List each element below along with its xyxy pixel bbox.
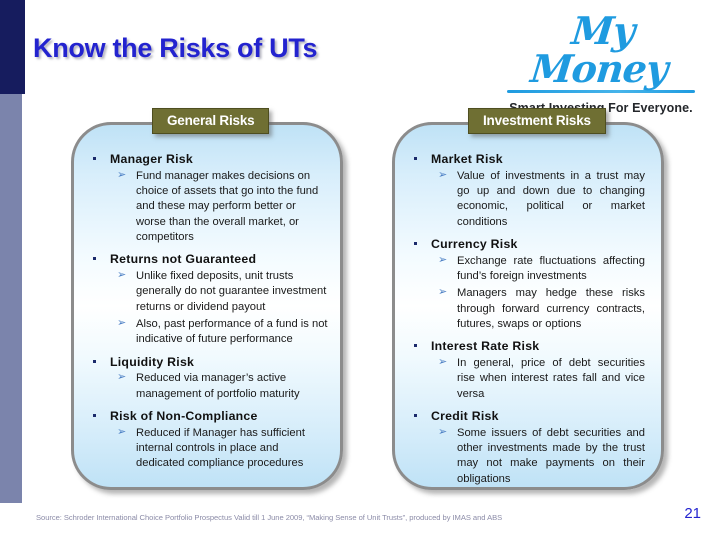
panel-general-risks-body: Manager Risk➢Fund manager makes decision… [74,125,340,478]
bullet-dot-icon [414,157,417,160]
arrow-bullet-icon: ➢ [117,425,126,441]
risk-item: Returns not Guaranteed➢Unlike fixed depo… [86,251,328,347]
risk-item-title: Risk of Non-Compliance [110,408,328,425]
sidebar-navy-block [0,0,25,94]
risk-detail-text: Reduced if Manager has sufficient intern… [136,426,328,472]
sidebar-slate-bar [0,94,22,503]
risk-detail-text: In general, price of debt securities ris… [457,356,649,402]
risk-detail-list: ➢Fund manager makes decisions on choice … [110,169,328,246]
risk-detail-text: Managers may hedge these risks through f… [457,286,649,332]
risk-detail-text: Value of investments in a trust may go u… [457,169,649,230]
risk-item-title: Currency Risk [431,236,649,253]
risk-detail-text: Some issuers of debt securities and othe… [457,426,649,487]
bullet-dot-icon [93,157,96,160]
panel-general-risks: Manager Risk➢Fund manager makes decision… [71,122,343,490]
risk-item-title: Liquidity Risk [110,354,328,371]
risk-detail-text: Reduced via manager’s active management … [136,371,328,402]
risk-detail-text: Exchange rate fluctuations affecting fun… [457,254,649,285]
risk-detail-list: ➢Exchange rate fluctuations affecting fu… [431,254,649,333]
risk-item: Interest Rate Risk➢In general, price of … [407,338,649,402]
risk-detail-list: ➢Some issuers of debt securities and oth… [431,426,649,487]
arrow-bullet-icon: ➢ [438,425,447,441]
risk-detail-item: ➢Unlike fixed deposits, unit trusts gene… [110,269,328,315]
risk-detail-item: ➢Value of investments in a trust may go … [431,169,649,230]
bullet-dot-icon [93,257,96,260]
risk-detail-item: ➢In general, price of debt securities ri… [431,356,649,402]
risk-detail-text: Unlike fixed deposits, unit trusts gener… [136,269,328,315]
risk-item-title: Returns not Guaranteed [110,251,328,268]
risk-item: Risk of Non-Compliance➢Reduced if Manage… [86,408,328,472]
slide: Know the Risks of UTs My Money Smart Inv… [0,0,715,536]
risk-detail-text: Fund manager makes decisions on choice o… [136,169,328,246]
risk-detail-item: ➢Reduced via manager’s active management… [110,371,328,402]
risk-detail-list: ➢In general, price of debt securities ri… [431,356,649,402]
risk-detail-list: ➢Value of investments in a trust may go … [431,169,649,230]
risk-detail-item: ➢Also, past performance of a fund is not… [110,317,328,348]
risk-item-title: Interest Rate Risk [431,338,649,355]
risk-item: Manager Risk➢Fund manager makes decision… [86,151,328,245]
panel-header-general-risks: General Risks [152,108,269,134]
panel-investment-risks: Market Risk➢Value of investments in a tr… [392,122,664,490]
bullet-dot-icon [93,360,96,363]
bullet-dot-icon [93,414,96,417]
risk-detail-list: ➢Unlike fixed deposits, unit trusts gene… [110,269,328,348]
panel-header-investment-risks: Investment Risks [468,108,606,134]
arrow-bullet-icon: ➢ [438,355,447,371]
source-note: Source: Schroder International Choice Po… [36,513,502,522]
arrow-bullet-icon: ➢ [117,268,126,284]
risk-item: Liquidity Risk➢Reduced via manager’s act… [86,354,328,402]
bullet-dot-icon [414,344,417,347]
risk-list-investment: Market Risk➢Value of investments in a tr… [407,151,649,487]
arrow-bullet-icon: ➢ [117,316,126,332]
risk-item: Currency Risk➢Exchange rate fluctuations… [407,236,649,332]
risk-detail-item: ➢Fund manager makes decisions on choice … [110,169,328,246]
risk-detail-item: ➢Some issuers of debt securities and oth… [431,426,649,487]
risk-detail-item: ➢Reduced if Manager has sufficient inter… [110,426,328,472]
arrow-bullet-icon: ➢ [438,253,447,269]
bullet-dot-icon [414,414,417,417]
risk-detail-item: ➢Managers may hedge these risks through … [431,286,649,332]
risk-item: Market Risk➢Value of investments in a tr… [407,151,649,230]
risk-item: Credit Risk➢Some issuers of debt securit… [407,408,649,487]
risk-detail-text: Also, past performance of a fund is not … [136,317,328,348]
page-title: Know the Risks of UTs [33,33,317,64]
logo-wordmark: My Money [497,12,705,88]
risk-item-title: Manager Risk [110,151,328,168]
risk-list-general: Manager Risk➢Fund manager makes decision… [86,151,328,472]
panel-investment-risks-body: Market Risk➢Value of investments in a tr… [395,125,661,490]
risk-item-title: Market Risk [431,151,649,168]
bullet-dot-icon [414,242,417,245]
page-number: 21 [684,505,701,522]
logo: My Money Smart Investing For Everyone. [501,12,701,115]
risk-detail-list: ➢Reduced via manager’s active management… [110,371,328,402]
arrow-bullet-icon: ➢ [438,168,447,184]
arrow-bullet-icon: ➢ [117,168,126,184]
risk-item-title: Credit Risk [431,408,649,425]
arrow-bullet-icon: ➢ [438,285,447,301]
risk-detail-item: ➢Exchange rate fluctuations affecting fu… [431,254,649,285]
arrow-bullet-icon: ➢ [117,370,126,386]
risk-detail-list: ➢Reduced if Manager has sufficient inter… [110,426,328,472]
